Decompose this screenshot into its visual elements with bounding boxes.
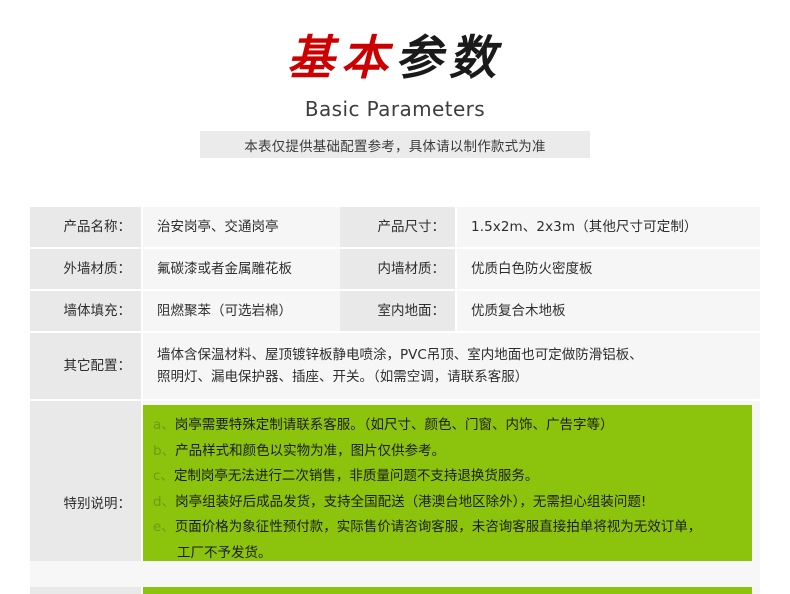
- table-row: 其它配置： 墙体含保温材料、屋顶镀锌板静电喷涂，PVC吊顶、室内地面也可定做防滑…: [30, 333, 760, 401]
- label-interior-material: 内墙材质：: [340, 249, 457, 291]
- special-note-item: d、岗亭组装好后成品发货，支持全国配送（港澳台地区除外），无需担心组装问题!: [153, 490, 740, 516]
- special-note-item: a、岗亭需要特殊定制请联系客服。（如尺寸、颜色、门窗、内饰、广告字等）: [153, 413, 740, 439]
- special-note-item: c、定制岗亭无法进行二次销售，非质量问题不支持退换货服务。: [153, 464, 740, 490]
- table-row: 墙体填充： 阻燃聚苯（可选岩棉） 室内地面： 优质复合木地板: [30, 291, 760, 333]
- special-note-item: e、页面价格为象征性预付款，实际售价请咨询客服，未咨询客服直接拍单将视为无效订单…: [153, 515, 740, 541]
- notice-banner: 本表仅提供基础配置参考，具体请以制作款式为准: [200, 131, 590, 158]
- label-product-size: 产品尺寸：: [340, 207, 457, 249]
- label-indoor-floor: 室内地面：: [340, 291, 457, 333]
- special-note-text: 工厂不予发货。: [177, 545, 272, 561]
- notice-banner-text: 本表仅提供基础配置参考，具体请以制作款式为准: [244, 135, 545, 155]
- special-note-text: 岗亭需要特殊定制请联系客服。（如尺寸、颜色、门窗、内饰、广告字等）: [175, 417, 614, 433]
- special-note-marker: a、: [153, 417, 175, 433]
- table-row: 产品名称： 治安岗亭、交通岗亭 产品尺寸： 1.5x2m、2x3m（其他尺寸可定…: [30, 207, 760, 249]
- special-note-text: 产品样式和颜色以实物为准，图片仅供参考。: [175, 443, 445, 459]
- value-wall-filling: 阻燃聚苯（可选岩棉）: [143, 291, 340, 333]
- value-interior-material: 优质白色防火密度板: [457, 249, 760, 291]
- table-row: 外墙材质： 氟碳漆或者金属雕花板 内墙材质： 优质白色防火密度板: [30, 249, 760, 291]
- other-config-line-2: 照明灯、漏电保护器、插座、开关。（如需空调，请联系客服）: [157, 366, 752, 388]
- special-note-marker: d、: [153, 494, 175, 510]
- value-product-size: 1.5x2m、2x3m（其他尺寸可定制）: [457, 207, 760, 249]
- value-indoor-floor: 优质复合木地板: [457, 291, 760, 333]
- special-note-marker: b、: [153, 443, 175, 459]
- page-subtitle-en: Basic Parameters: [0, 96, 790, 122]
- label-wall-filling: 墙体填充：: [30, 291, 143, 333]
- page-title: 基本参数: [0, 30, 790, 88]
- label-exterior-material: 外墙材质：: [30, 249, 143, 291]
- parameters-table: 产品名称： 治安岗亭、交通岗亭 产品尺寸： 1.5x2m、2x3m（其他尺寸可定…: [30, 207, 760, 594]
- value-exterior-material: 氟碳漆或者金属雕花板: [143, 249, 340, 291]
- value-product-name: 治安岗亭、交通岗亭: [143, 207, 340, 249]
- value-other-config: 墙体含保温材料、屋顶镀锌板静电喷涂，PVC吊顶、室内地面也可定做防滑铝板、 照明…: [143, 333, 760, 401]
- label-other-config: 其它配置：: [30, 333, 143, 401]
- special-note-text: 岗亭组装好后成品发货，支持全国配送（港澳台地区除外），无需担心组装问题!: [175, 494, 646, 510]
- special-note-item: b、产品样式和颜色以实物为准，图片仅供参考。: [153, 439, 740, 465]
- special-note-text: 页面价格为象征性预付款，实际售价请咨询客服，未咨询客服直接拍单将视为无效订单，: [175, 519, 702, 535]
- special-note-marker: c、: [153, 468, 174, 484]
- label-product-name: 产品名称：: [30, 207, 143, 249]
- page-title-red: 基本: [287, 31, 395, 86]
- page-root: 基本参数 Basic Parameters 本表仅提供基础配置参考，具体请以制作…: [0, 0, 790, 594]
- page-title-dark: 参数: [395, 31, 503, 86]
- table-footer-strip: [30, 561, 760, 587]
- other-config-line-1: 墙体含保温材料、屋顶镀锌板静电喷涂，PVC吊顶、室内地面也可定做防滑铝板、: [157, 344, 752, 366]
- special-note-text: 定制岗亭无法进行二次销售，非质量问题不支持退换货服务。: [174, 468, 539, 484]
- special-note-marker: e、: [153, 519, 175, 535]
